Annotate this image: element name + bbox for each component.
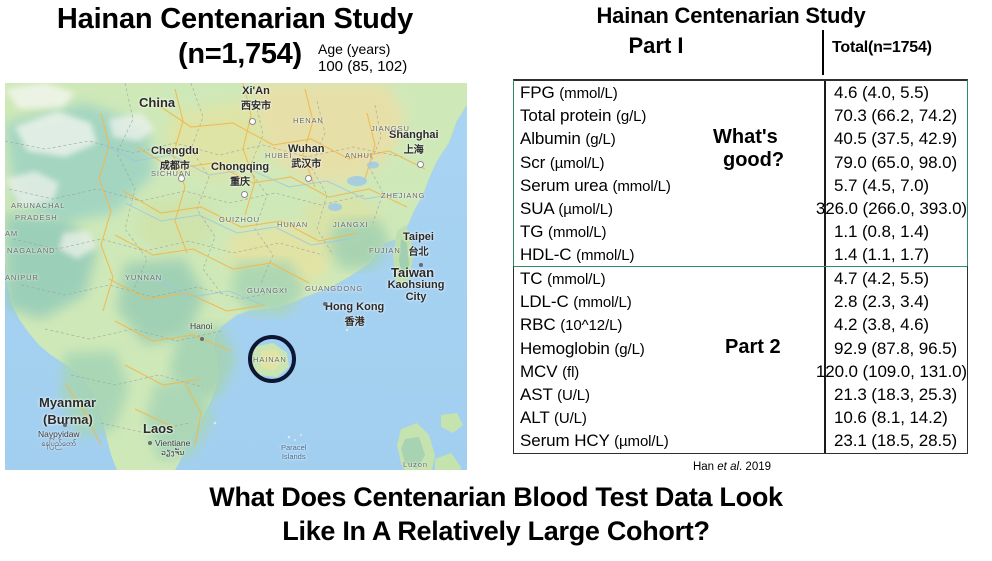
map-dot-chengdu [178, 175, 185, 182]
map-dot-hanoi [200, 337, 204, 341]
slide-root: Hainan Centenarian Study (n=1,754) Age (… [0, 0, 992, 561]
row-value: 326.0 (266.0, 393.0) [806, 197, 967, 220]
row-label: AST (U/L) [514, 383, 824, 407]
left-subline: (n=1,754) Age (years) 100 (85, 102) [0, 38, 496, 84]
row-value: 2.8 (2.3, 3.4) [824, 290, 967, 313]
row-label: TC (mmol/L) [514, 267, 824, 291]
row-label: TG (mmol/L) [514, 220, 824, 244]
row-value: 4.2 (3.8, 4.6) [824, 313, 967, 336]
annotation-whats: What's [710, 126, 781, 149]
row-value: 40.5 (37.5, 42.9) [824, 127, 967, 150]
row-value: 23.1 (18.5, 28.5) [824, 429, 967, 452]
row-label: FPG (mmol/L) [514, 81, 824, 105]
row-value: 1.1 (0.8, 1.4) [824, 220, 967, 243]
row-label: LDL-C (mmol/L) [514, 290, 824, 314]
row-value: 5.7 (4.5, 7.0) [824, 174, 967, 197]
row-label: Total protein (g/L) [514, 104, 824, 128]
row-label: MCV (fl) [514, 360, 806, 384]
annotation-good: good? [720, 149, 787, 172]
table-row: Serum HCY (µmol/L) 23.1 (18.5, 28.5) [514, 429, 967, 452]
right-panel: Hainan Centenarian Study Part I Total(n=… [496, 0, 992, 478]
footer-line-2: Like In A Relatively Large Cohort? [0, 514, 992, 548]
footer-line-1: What Does Centenarian Blood Test Data Lo… [209, 482, 782, 512]
row-label: RBC (10^12/L) [514, 313, 824, 337]
map-dot-taipei [419, 263, 423, 267]
row-label: SUA (µmol/L) [514, 197, 806, 221]
map-dot-vientiane [148, 441, 152, 445]
row-label: Serum urea (mmol/L) [514, 174, 824, 198]
map-dot-xian [249, 118, 256, 125]
table-row: TG (mmol/L) 1.1 (0.8, 1.4) [514, 220, 967, 243]
row-value: 92.9 (87.8, 96.5) [824, 337, 967, 360]
age-annotation: Age (years) 100 (85, 102) [318, 41, 407, 75]
citation-etal: et al [717, 461, 739, 473]
table-row: SUA (µmol/L) 326.0 (266.0, 393.0) [514, 197, 967, 220]
table-row: TC (mmol/L) 4.7 (4.2, 5.5) [514, 267, 967, 290]
row-value: 79.0 (65.0, 98.0) [824, 151, 967, 174]
row-value: 21.3 (18.3, 25.3) [824, 383, 967, 406]
row-label: HDL-C (mmol/L) [514, 243, 824, 267]
citation-year: . 2019 [739, 461, 771, 473]
results-table: What's good? FPG (mmol/L) 4.6 (4.0, 5.5)… [513, 79, 968, 454]
map-dot-wuhan [305, 175, 312, 182]
row-value: 120.0 (109.0, 131.0) [806, 360, 967, 383]
row-value: 4.7 (4.2, 5.5) [824, 267, 967, 290]
row-value: 1.4 (1.1, 1.7) [824, 243, 967, 266]
row-value: 4.6 (4.0, 5.5) [824, 81, 967, 104]
table-row: Serum urea (mmol/L) 5.7 (4.5, 7.0) [514, 174, 967, 197]
left-panel: Hainan Centenarian Study (n=1,754) Age (… [0, 0, 496, 478]
table-row: Total protein (g/L) 70.3 (66.2, 74.2) [514, 104, 967, 127]
map-dot-shanghai [417, 161, 424, 168]
table-row: RBC (10^12/L) 4.2 (3.8, 4.6) [514, 313, 967, 336]
annotation-part2: Part 2 [722, 336, 784, 359]
asia-map[interactable]: China Xi'An西安市 Chengdu成都市 Chongqing重庆 Wu… [5, 83, 467, 470]
part1-section: What's good? FPG (mmol/L) 4.6 (4.0, 5.5)… [513, 79, 968, 268]
map-dot-hongkong [323, 302, 327, 306]
header-column-divider [822, 30, 824, 75]
row-value: 10.6 (8.1, 14.2) [824, 406, 967, 429]
citation: Han et al. 2019 [496, 461, 968, 473]
table-row: AST (U/L) 21.3 (18.3, 25.3) [514, 383, 967, 406]
part1-heading: Part I [506, 33, 806, 59]
row-label: ALT (U/L) [514, 406, 824, 430]
total-column-heading: Total(n=1754) [832, 39, 932, 57]
age-label: Age (years) [318, 41, 407, 58]
table-row: MCV (fl) 120.0 (109.0, 131.0) [514, 360, 967, 383]
left-study-title: Hainan Centenarian Study [0, 2, 470, 36]
row-label: Serum HCY (µmol/L) [514, 429, 824, 453]
map-graphic [5, 83, 467, 470]
table-row: HDL-C (mmol/L) 1.4 (1.1, 1.7) [514, 243, 967, 266]
map-dot-naypyidaw [63, 423, 67, 427]
footer-question: What Does Centenarian Blood Test Data Lo… [0, 480, 992, 548]
table-row: ALT (U/L) 10.6 (8.1, 14.2) [514, 406, 967, 429]
sample-size-label: (n=1,754) [178, 38, 302, 71]
part2-section: Part 2 TC (mmol/L) 4.7 (4.2, 5.5) LDL-C … [513, 266, 968, 454]
map-dot-chongqing [241, 191, 248, 198]
table-row: LDL-C (mmol/L) 2.8 (2.3, 3.4) [514, 290, 967, 313]
hainan-highlight-circle [248, 335, 296, 383]
age-value: 100 (85, 102) [318, 58, 407, 75]
right-study-title: Hainan Centenarian Study [496, 3, 966, 29]
citation-author: Han [693, 461, 717, 473]
table-row: FPG (mmol/L) 4.6 (4.0, 5.5) [514, 81, 967, 104]
row-value: 70.3 (66.2, 74.2) [824, 104, 967, 127]
